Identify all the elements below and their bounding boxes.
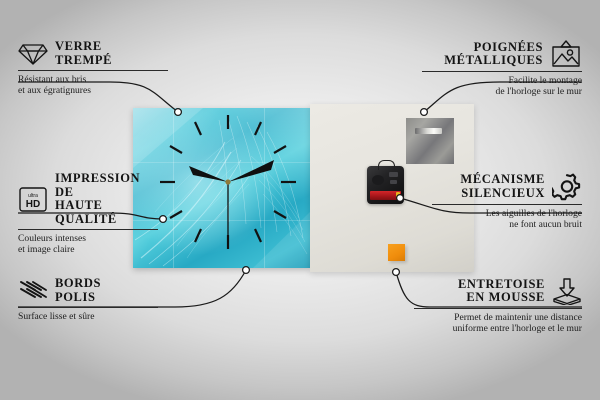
feature-edges-title: BORDS POLIS xyxy=(55,277,101,304)
feature-print-sub1: Couleurs intenses xyxy=(18,233,158,244)
connector-dot-print xyxy=(160,216,167,223)
feature-print-title: IMPRESSION DE HAUTE QUALITÉ xyxy=(55,172,158,226)
feature-edges-sub1: Surface lisse et sûre xyxy=(18,311,158,322)
connector-dot-mechanism xyxy=(397,195,404,202)
feature-mechanism-sub2: ne font aucun bruit xyxy=(432,219,582,230)
feature-mechanism-sub1: Les aiguilles de l'horloge xyxy=(432,208,582,219)
svg-text:HD: HD xyxy=(26,199,40,210)
connector-dot-glass xyxy=(175,109,182,116)
feature-print: ultra HD IMPRESSION DE HAUTE QUALITÉ Cou… xyxy=(18,172,158,256)
divider xyxy=(18,307,158,308)
feature-spacer-head: ENTRETOISE EN MOUSSE xyxy=(414,277,582,305)
divider xyxy=(18,229,158,230)
diamond-icon xyxy=(18,41,48,67)
infographic-canvas: VERRE TREMPÉ Résistant aux bris et aux é… xyxy=(0,0,600,400)
divider xyxy=(18,70,168,71)
feature-mechanism-title: MÉCANISME SILENCIEUX xyxy=(460,173,545,200)
feature-glass-title: VERRE TREMPÉ xyxy=(55,40,112,67)
feature-print-sub2: et image claire xyxy=(18,244,158,255)
feature-spacer-title: ENTRETOISE EN MOUSSE xyxy=(458,278,545,305)
feature-spacer-sub2: uniforme entre l'horloge et le mur xyxy=(414,323,582,334)
feature-handles-sub2: de l'horloge sur le mur xyxy=(422,86,582,97)
feature-spacer: ENTRETOISE EN MOUSSE Permet de maintenir… xyxy=(414,277,582,335)
feature-mechanism-head: MÉCANISME SILENCIEUX xyxy=(432,172,582,201)
foam-spacer-icon xyxy=(552,277,582,305)
feature-edges-head: BORDS POLIS xyxy=(18,277,158,304)
divider xyxy=(414,308,582,309)
feature-glass-head: VERRE TREMPÉ xyxy=(18,40,168,67)
divider xyxy=(432,204,582,205)
feature-glass-sub1: Résistant aux bris xyxy=(18,74,168,85)
feature-print-head: ultra HD IMPRESSION DE HAUTE QUALITÉ xyxy=(18,172,158,226)
feature-handles: POIGNÉES MÉTALLIQUES Facilite le montage… xyxy=(422,40,582,98)
feature-handles-sub1: Facilite le montage xyxy=(422,75,582,86)
feature-handles-head: POIGNÉES MÉTALLIQUES xyxy=(422,40,582,68)
ultra-hd-icon: ultra HD xyxy=(18,186,48,213)
feature-spacer-sub1: Permet de maintenir une distance xyxy=(414,312,582,323)
polished-edges-icon xyxy=(18,279,48,303)
feature-glass-sub2: et aux égratignures xyxy=(18,85,168,96)
feature-handles-title: POIGNÉES MÉTALLIQUES xyxy=(444,41,543,68)
divider xyxy=(422,71,582,72)
connector-dot-edges xyxy=(243,267,250,274)
feature-edges: BORDS POLIS Surface lisse et sûre xyxy=(18,277,158,322)
connector-dot-spacer xyxy=(393,269,400,276)
gear-icon xyxy=(552,172,582,201)
wall-frame-icon xyxy=(550,40,582,68)
connector-dot-handles xyxy=(421,109,428,116)
feature-mechanism: MÉCANISME SILENCIEUX Les aiguilles de l'… xyxy=(432,172,582,231)
feature-glass: VERRE TREMPÉ Résistant aux bris et aux é… xyxy=(18,40,168,97)
